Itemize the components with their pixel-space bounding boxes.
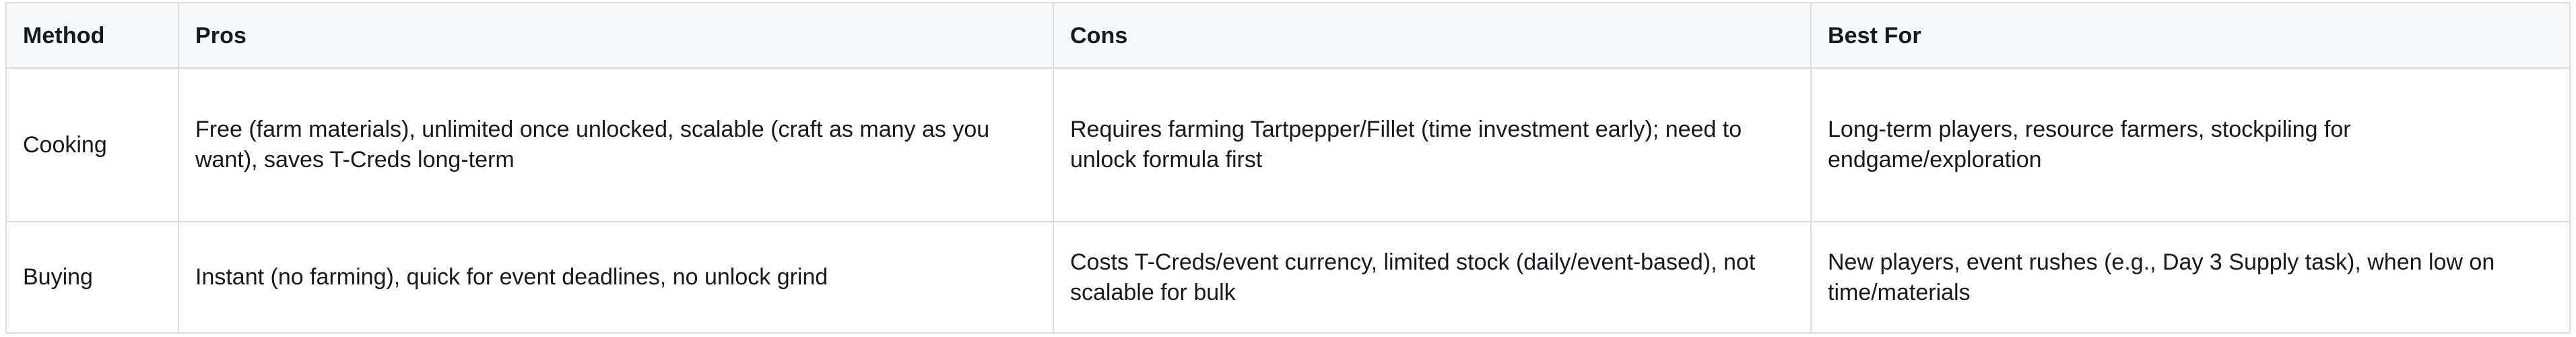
cell-pros: Free (farm materials), unlimited once un… — [178, 68, 1053, 222]
column-header-cons-label: Cons — [1070, 21, 1794, 51]
cell-method: Buying — [6, 222, 178, 333]
cell-cons-value: Requires farming Tartpepper/Fillet (time… — [1070, 115, 1794, 175]
table-row: Buying Instant (no farming), quick for e… — [6, 222, 2570, 333]
comparison-table: Method Pros Cons Best For Cooking Fr — [5, 2, 2571, 334]
cell-bestfor-value: New players, event rushes (e.g., Day 3 S… — [1828, 247, 2553, 308]
cell-bestfor-value: Long-term players, resource farmers, sto… — [1828, 115, 2553, 175]
table-header: Method Pros Cons Best For — [6, 3, 2570, 68]
cell-pros-value: Free (farm materials), unlimited once un… — [195, 115, 1036, 175]
cell-method-value: Buying — [23, 262, 162, 293]
column-header-cons: Cons — [1053, 3, 1811, 68]
cell-method: Cooking — [6, 68, 178, 222]
cell-pros-value: Instant (no farming), quick for event de… — [195, 262, 1036, 293]
column-header-pros-label: Pros — [195, 21, 1036, 51]
cell-pros: Instant (no farming), quick for event de… — [178, 222, 1053, 333]
table-row: Cooking Free (farm materials), unlimited… — [6, 68, 2570, 222]
cell-bestfor: Long-term players, resource farmers, sto… — [1811, 68, 2570, 222]
cell-cons: Requires farming Tartpepper/Fillet (time… — [1053, 68, 1811, 222]
table-body: Cooking Free (farm materials), unlimited… — [6, 68, 2570, 333]
column-header-method-label: Method — [23, 21, 162, 51]
column-header-bestfor: Best For — [1811, 3, 2570, 68]
column-header-method: Method — [6, 3, 178, 68]
cell-cons: Costs T-Creds/event currency, limited st… — [1053, 222, 1811, 333]
cell-cons-value: Costs T-Creds/event currency, limited st… — [1070, 247, 1794, 308]
cell-method-value: Cooking — [23, 130, 162, 160]
column-header-pros: Pros — [178, 3, 1053, 68]
column-header-bestfor-label: Best For — [1828, 21, 2553, 51]
table-header-row: Method Pros Cons Best For — [6, 3, 2570, 68]
cell-bestfor: New players, event rushes (e.g., Day 3 S… — [1811, 222, 2570, 333]
comparison-table-container: Method Pros Cons Best For Cooking Fr — [5, 2, 2569, 332]
